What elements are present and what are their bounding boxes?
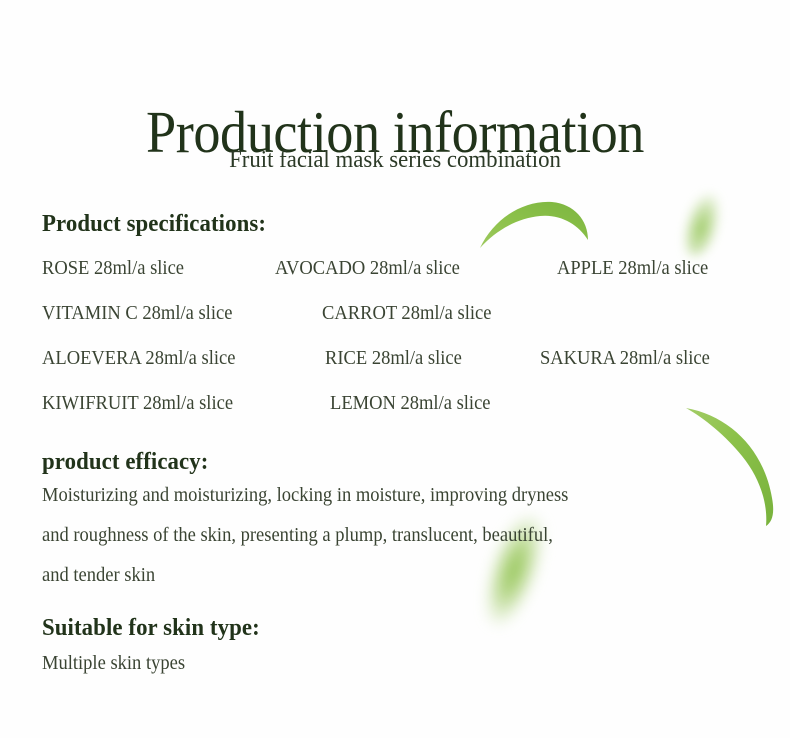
leaf-crescent-top-icon xyxy=(478,196,590,252)
spec-item-rose: ROSE 28ml/a slice xyxy=(42,258,184,280)
efficacy-heading: product efficacy: xyxy=(42,449,208,476)
specifications-row: ALOEVERA 28ml/a slice RICE 28ml/a slice … xyxy=(42,348,762,393)
specifications-heading: Product specifications: xyxy=(42,211,266,238)
skin-type-value: Multiple skin types xyxy=(42,653,185,675)
spec-item-kiwifruit: KIWIFRUIT 28ml/a slice xyxy=(42,393,233,415)
efficacy-line: and roughness of the skin, presenting a … xyxy=(42,525,722,565)
spec-item-apple: APPLE 28ml/a slice xyxy=(557,258,708,280)
specifications-row: VITAMIN C 28ml/a slice CARROT 28ml/a sli… xyxy=(42,303,762,348)
product-information-page: Production information Fruit facial mask… xyxy=(0,0,790,738)
spec-item-aloevera: ALOEVERA 28ml/a slice xyxy=(42,348,235,370)
page-subtitle: Fruit facial mask series combination xyxy=(20,146,771,175)
specifications-list: ROSE 28ml/a slice AVOCADO 28ml/a slice A… xyxy=(42,258,762,438)
leaf-blur-topright-icon xyxy=(678,189,727,261)
spec-item-rice: RICE 28ml/a slice xyxy=(325,348,462,370)
spec-item-vitamin-c: VITAMIN C 28ml/a slice xyxy=(42,303,232,325)
spec-item-sakura: SAKURA 28ml/a slice xyxy=(540,348,710,370)
specifications-row: KIWIFRUIT 28ml/a slice LEMON 28ml/a slic… xyxy=(42,393,762,438)
efficacy-line: Moisturizing and moisturizing, locking i… xyxy=(42,485,722,525)
efficacy-description: Moisturizing and moisturizing, locking i… xyxy=(42,485,758,605)
spec-item-lemon: LEMON 28ml/a slice xyxy=(330,393,491,415)
specifications-row: ROSE 28ml/a slice AVOCADO 28ml/a slice A… xyxy=(42,258,762,303)
skin-type-heading: Suitable for skin type: xyxy=(42,615,260,642)
efficacy-line: and tender skin xyxy=(42,565,722,605)
spec-item-avocado: AVOCADO 28ml/a slice xyxy=(275,258,460,280)
spec-item-carrot: CARROT 28ml/a slice xyxy=(322,303,491,325)
